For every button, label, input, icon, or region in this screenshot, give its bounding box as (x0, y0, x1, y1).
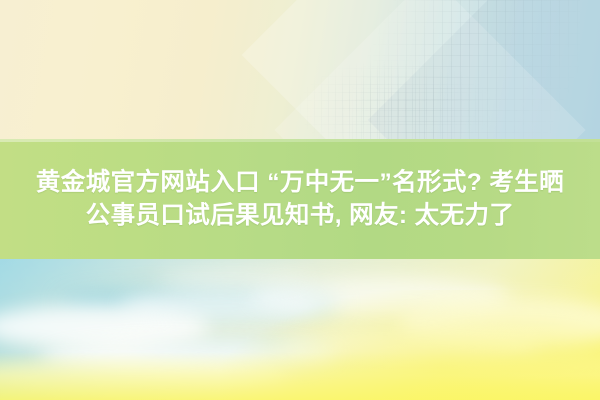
bottom-gradient-section (0, 259, 600, 400)
headline-line-2: 公事员口试后果见知书, 网友: 太无力了 (86, 199, 515, 232)
headline-band: 黄金城官方网站入口 “万中无一”名形式? 考生晒 公事员口试后果见知书, 网友:… (0, 139, 600, 259)
cloud-icon (160, 267, 310, 289)
headline-line-1: 黄金城官方网站入口 “万中无一”名形式? 考生晒 (36, 166, 564, 199)
promo-banner: 黄金城官方网站入口 “万中无一”名形式? 考生晒 公事员口试后果见知书, 网友:… (0, 0, 600, 400)
top-gradient-section (0, 0, 600, 140)
bottom-fade-overlay (0, 352, 600, 400)
dot-grid-texture-secondary (300, 60, 490, 140)
